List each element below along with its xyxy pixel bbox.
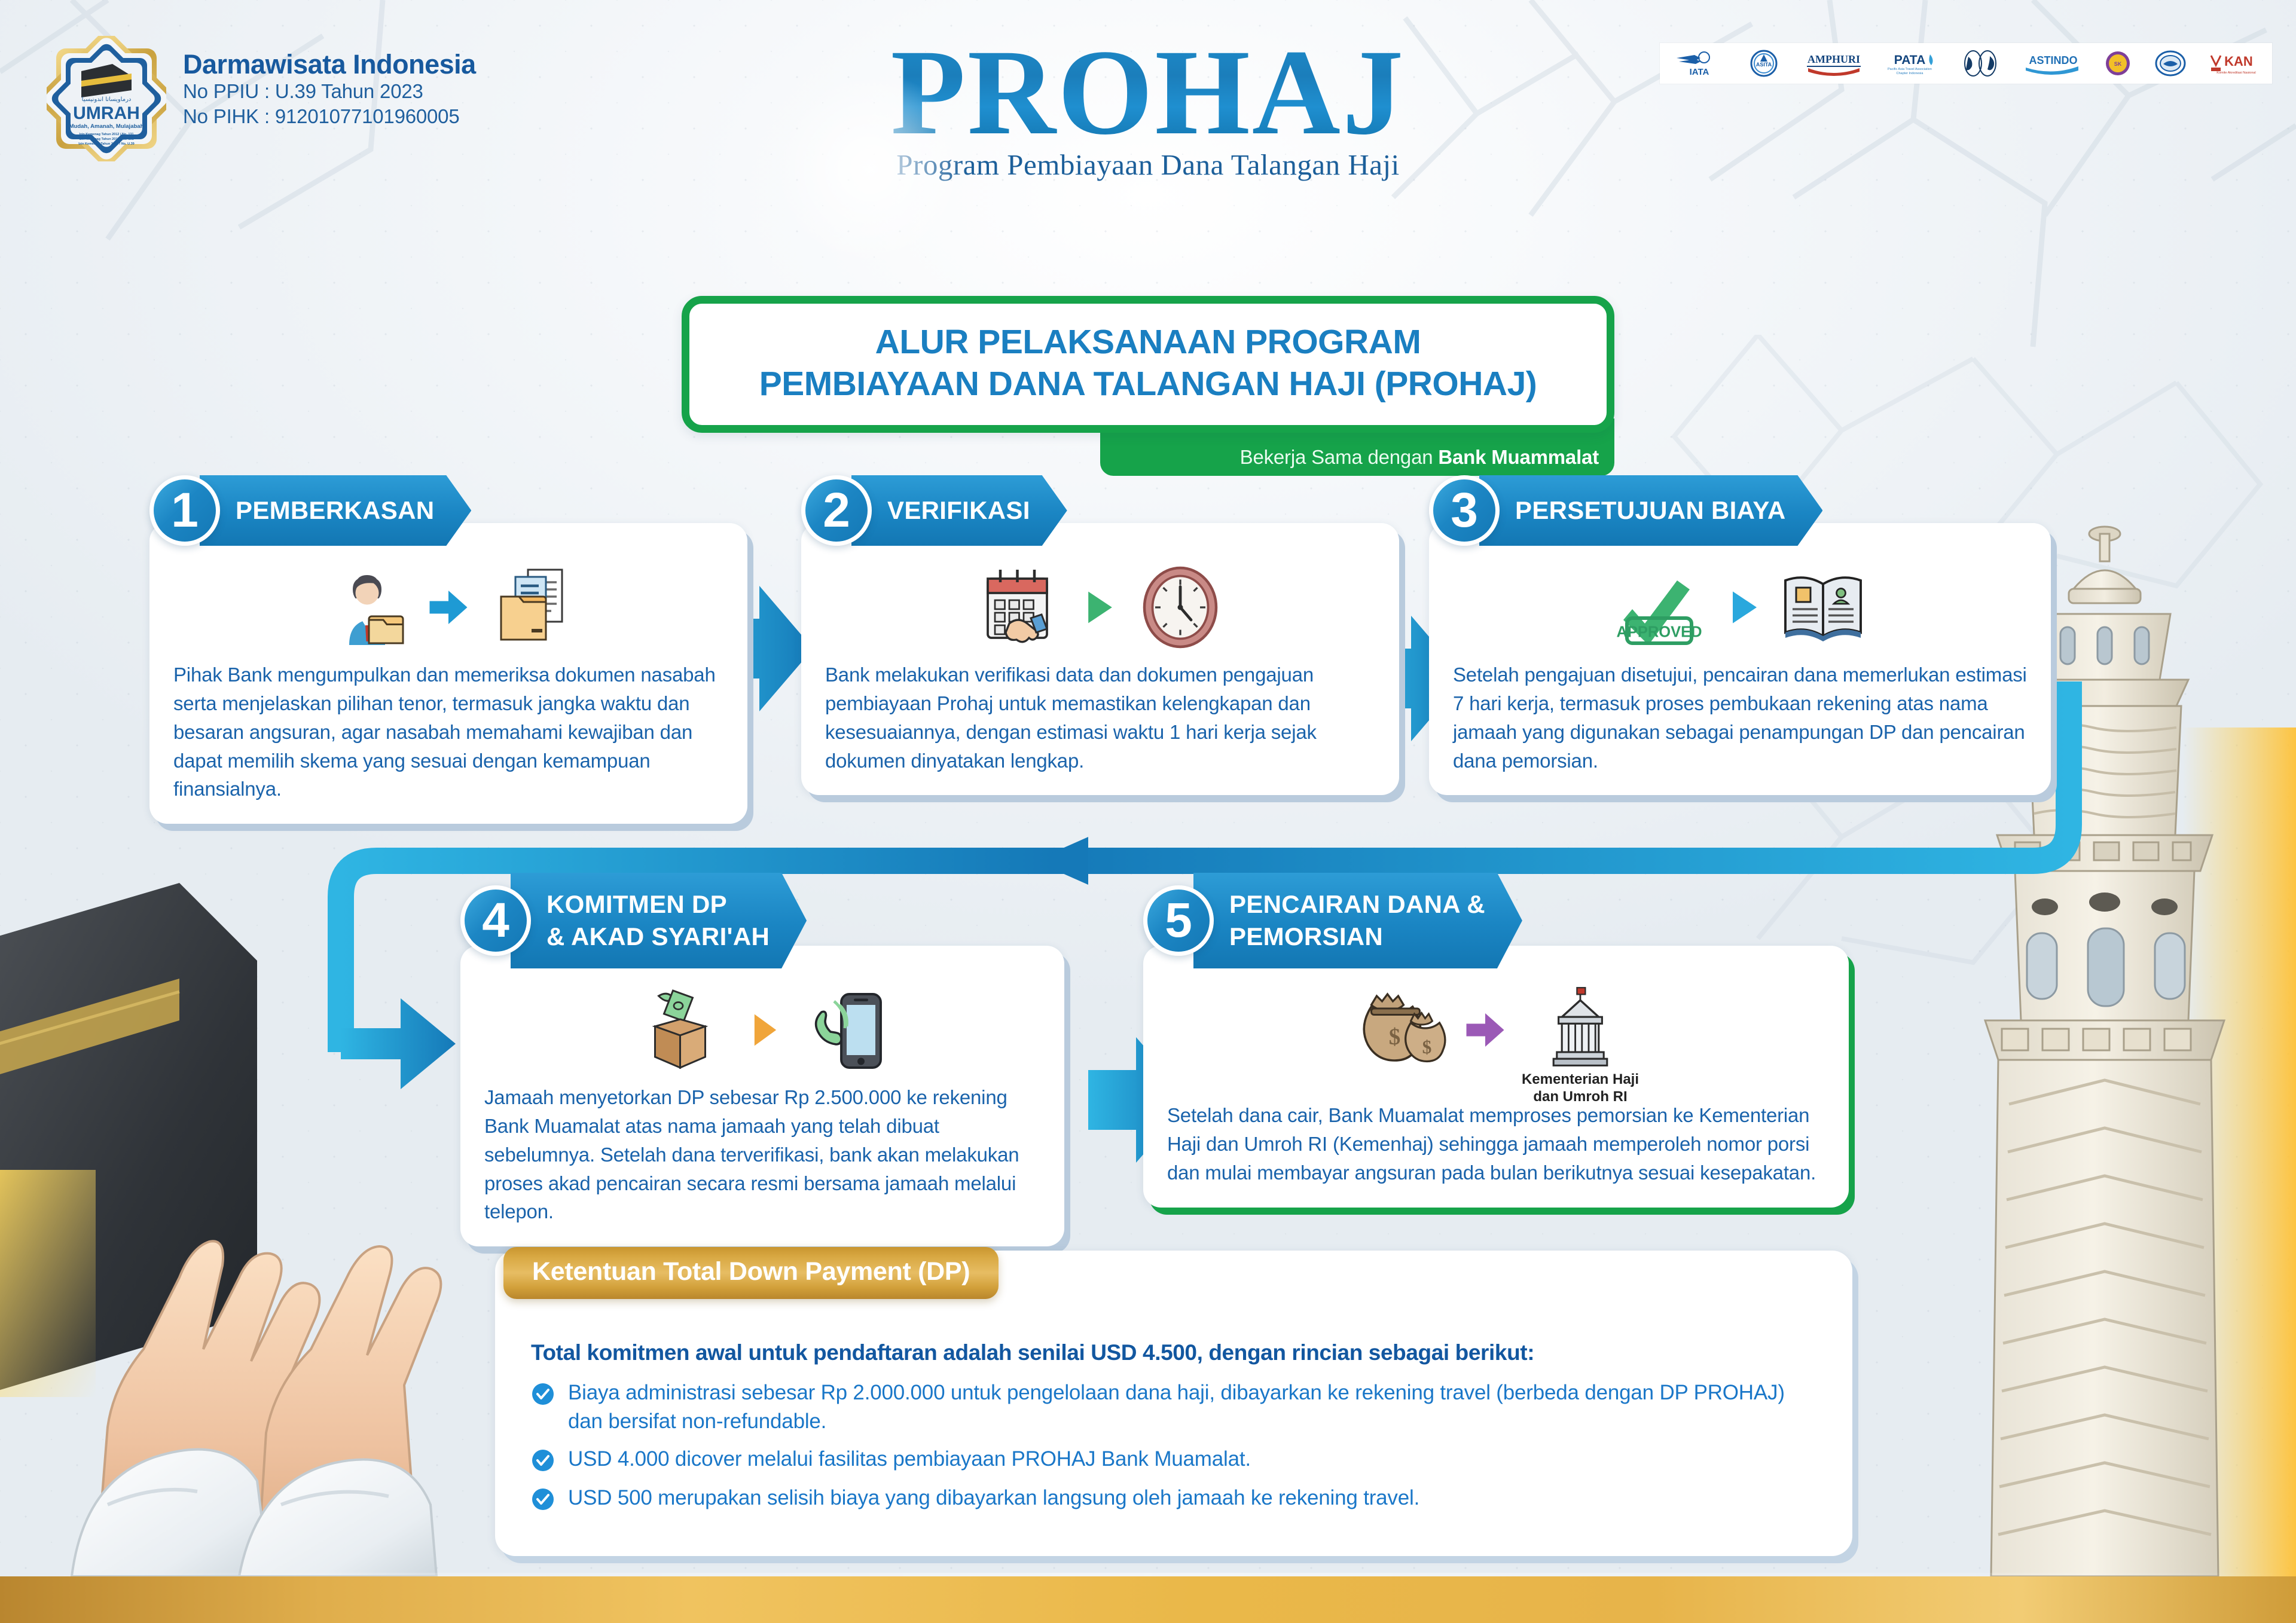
step-2-number: 2	[801, 475, 872, 546]
svg-text:$: $	[1389, 1024, 1401, 1050]
step-5-body: $ $ Kementer	[1143, 946, 1849, 1208]
praying-hands-kaaba-illustration	[0, 859, 454, 1576]
step-5-title-line-1: PENCAIRAN DANA &	[1229, 888, 1485, 921]
step-3-title-line-1: PERSETUJUAN BIAYA	[1515, 494, 1785, 527]
step-4-icons	[484, 985, 1040, 1075]
step-1-text: Pihak Bank mengumpulkan dan memeriksa do…	[173, 661, 723, 803]
page-title: PROHAJ	[891, 35, 1406, 151]
step-3-title: PERSETUJUAN BIAYA	[1479, 475, 1822, 546]
step-3-number: 3	[1429, 475, 1500, 546]
arrow-right-purple-icon	[1464, 1009, 1506, 1051]
step-4-text: Jamaah menyetorkan DP sebesar Rp 2.500.0…	[484, 1083, 1040, 1226]
step-card-3[interactable]: 3 PERSETUJUAN BIAYA APPROVED	[1429, 475, 2051, 795]
banner-line-1: ALUR PELAKSANAAN PROGRAM	[713, 322, 1583, 363]
partner-bank-name: Bank Muammalat	[1438, 446, 1599, 468]
dp-item-text: Biaya administrasi sebesar Rp 2.000.000 …	[568, 1379, 1816, 1436]
footer-gold-bar	[0, 1576, 2296, 1623]
open-passbook-icon	[1778, 563, 1868, 652]
step-4-title: KOMITMEN DP & AKAD SYARI'AH	[511, 873, 807, 968]
approved-checkmark-icon: APPROVED	[1613, 563, 1711, 652]
step-2-icons	[825, 563, 1375, 652]
dp-list-item: Biaya administrasi sebesar Rp 2.000.000 …	[531, 1379, 1816, 1436]
step-2-body: Bank melakukan verifikasi data dan dokum…	[801, 523, 1399, 795]
step-5-header: 5 PENCAIRAN DANA & PEMORSIAN	[1143, 873, 1849, 968]
step-1-number: 1	[149, 475, 220, 546]
step-1-icons	[173, 563, 723, 652]
step-5-text: Setelah dana cair, Bank Muamalat mempros…	[1167, 1101, 1825, 1187]
dp-lead-text: Total komitmen awal untuk pendaftaran ad…	[531, 1340, 1816, 1365]
dp-item-text: USD 4.000 dicover melalui fasilitas pemb…	[568, 1445, 1251, 1474]
dp-box: Ketentuan Total Down Payment (DP) Total …	[495, 1251, 1852, 1556]
dp-badge: Ketentuan Total Down Payment (DP)	[503, 1247, 999, 1299]
arrow-right-orange-icon	[748, 1010, 783, 1050]
step-card-2[interactable]: 2 VERIFIKASI	[801, 475, 1399, 795]
step-4-header: 4 KOMITMEN DP & AKAD SYARI'AH	[460, 873, 1064, 968]
step-2-title: VERIFIKASI	[851, 475, 1067, 546]
ministry-building-icon	[1538, 985, 1622, 1069]
check-circle-icon	[531, 1448, 555, 1475]
arrow-right-icon	[428, 586, 469, 628]
step-3-body: APPROVED Setelah pengajuan disetujui, pe…	[1429, 523, 2051, 795]
step-4-title-line-2: & AKAD SYARI'AH	[546, 921, 770, 953]
step-3-icons: APPROVED	[1453, 563, 2027, 652]
phone-call-icon	[798, 985, 888, 1075]
step-5-icons: $ $ Kementer	[1167, 985, 1825, 1093]
arrow-right-icon	[1727, 586, 1763, 628]
ministry-label-line-1: Kementerian Haji	[1522, 1071, 1639, 1089]
step-2-text: Bank melakukan verifikasi data dan dokum…	[825, 661, 1375, 775]
dp-item-text: USD 500 merupakan selisih biaya yang dib…	[568, 1484, 1419, 1512]
step-1-header: 1 PEMBERKASAN	[149, 475, 747, 546]
step-card-1[interactable]: 1 PEMBERKASAN	[149, 475, 747, 824]
program-flow-banner: Bekerja Sama dengan Bank Muammalat ALUR …	[682, 296, 1614, 433]
ministry-label: Kementerian Haji dan Umroh RI	[1522, 1071, 1639, 1106]
banner-line-2: PEMBIAYAAN DANA TALANGAN HAJI (PROHAJ)	[713, 363, 1583, 405]
page-header: درماويساتا اندونيسيا UMRAH Mudah, Amanah…	[0, 0, 2296, 281]
step-1-title-line-1: PEMBERKASAN	[236, 494, 434, 527]
step-5-title: PENCAIRAN DANA & PEMORSIAN	[1193, 873, 1522, 968]
calendar-handshake-icon	[975, 563, 1065, 652]
arrow-right-green-icon	[1080, 588, 1120, 627]
money-bags-icon: $ $	[1353, 985, 1449, 1075]
wall-clock-icon	[1135, 563, 1225, 652]
step-2-title-line-1: VERIFIKASI	[887, 494, 1030, 527]
check-circle-icon	[531, 1487, 555, 1514]
svg-text:APPROVED: APPROVED	[1616, 624, 1702, 641]
banner-box: ALUR PELAKSANAAN PROGRAM PEMBIAYAAN DANA…	[682, 296, 1614, 433]
dp-list-item: USD 500 merupakan selisih biaya yang dib…	[531, 1484, 1816, 1514]
partner-credit: Bekerja Sama dengan Bank Muammalat	[1240, 446, 1599, 469]
ministry-icon-group: Kementerian Haji dan Umroh RI	[1522, 985, 1639, 1106]
program-title-block: PROHAJ Program Pembiayaan Dana Talangan …	[0, 35, 2296, 182]
step-5-number: 5	[1143, 885, 1214, 956]
check-circle-icon	[531, 1382, 555, 1409]
step-card-4[interactable]: 4 KOMITMEN DP & AKAD SYARI'AH	[460, 873, 1064, 1246]
dp-items-list: Biaya administrasi sebesar Rp 2.000.000 …	[531, 1379, 1816, 1514]
step-2-header: 2 VERIFIKASI	[801, 475, 1399, 546]
documents-folder-icon	[485, 563, 575, 652]
step-4-title-line-1: KOMITMEN DP	[546, 888, 770, 921]
step-1-title: PEMBERKASAN	[200, 475, 471, 546]
step-4-number: 4	[460, 885, 531, 956]
step-5-title-line-2: PEMORSIAN	[1229, 921, 1485, 953]
step-3-text: Setelah pengajuan disetujui, pencairan d…	[1453, 661, 2027, 775]
down-payment-panel: Ketentuan Total Down Payment (DP) Total …	[495, 1251, 1852, 1556]
partner-credit-prefix: Bekerja Sama dengan	[1240, 446, 1439, 468]
step-card-5[interactable]: 5 PENCAIRAN DANA & PEMORSIAN $ $	[1143, 873, 1849, 1208]
step-4-body: Jamaah menyetorkan DP sebesar Rp 2.500.0…	[460, 946, 1064, 1246]
svg-text:$: $	[1422, 1037, 1432, 1057]
money-box-icon	[637, 985, 732, 1075]
step-3-header: 3 PERSETUJUAN BIAYA	[1429, 475, 2051, 546]
officer-with-folder-icon	[322, 563, 412, 652]
dp-list-item: USD 4.000 dicover melalui fasilitas pemb…	[531, 1445, 1816, 1475]
step-1-body: Pihak Bank mengumpulkan dan memeriksa do…	[149, 523, 747, 824]
